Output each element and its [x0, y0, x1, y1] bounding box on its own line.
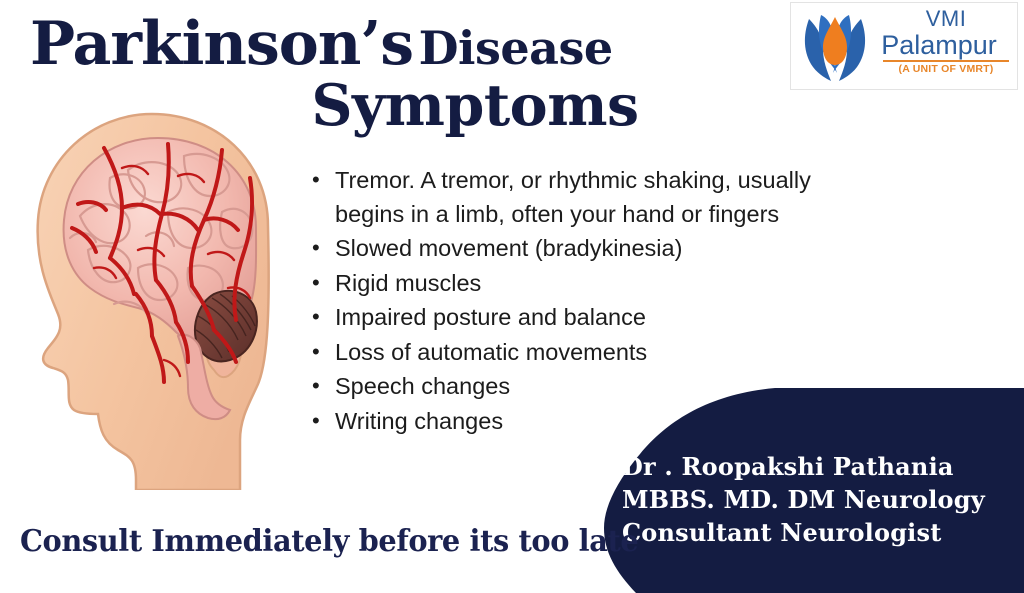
doctor-details: Dr . Roopakshi Pathania MBBS. MD. DM Neu… [622, 450, 1022, 549]
logo-unit-line: (A UNIT OF VMRT) [875, 62, 1017, 76]
doctor-name: Dr . Roopakshi Pathania [622, 450, 1022, 483]
title-word-disease: Disease [419, 21, 613, 75]
logo-wordmark: VMI Palampur (A UNIT OF VMRT) [875, 7, 1017, 76]
title-line-2: Symptoms [30, 77, 770, 135]
list-item: Rigid muscles [308, 267, 828, 301]
list-item: Loss of automatic movements [308, 336, 828, 370]
page-title: Parkinson’s Disease Symptoms [30, 14, 770, 135]
doctor-credentials-panel: Dr . Roopakshi Pathania MBBS. MD. DM Neu… [560, 388, 1024, 593]
list-item: Impaired posture and balance [308, 301, 828, 335]
head-profile-with-brain-illustration [18, 108, 310, 490]
title-line-1: Parkinson’s Disease [30, 14, 770, 75]
list-item: Slowed movement (bradykinesia) [308, 232, 828, 266]
poster-canvas: VMI Palampur (A UNIT OF VMRT) Parkinson’… [0, 0, 1024, 593]
call-to-action-tagline: Consult Immediately before its too late [20, 524, 638, 559]
list-item: Tremor. A tremor, or rhythmic shaking, u… [308, 164, 828, 231]
doctor-role: Consultant Neurologist [622, 516, 1022, 549]
vmi-palampur-logo: VMI Palampur (A UNIT OF VMRT) [790, 2, 1018, 90]
doctor-qualifications: MBBS. MD. DM Neurology [622, 483, 1022, 516]
logo-line-palampur: Palampur [861, 31, 1017, 59]
title-word-parkinsons: Parkinson’s [30, 9, 413, 79]
logo-line-vmi: VMI [875, 7, 1017, 31]
